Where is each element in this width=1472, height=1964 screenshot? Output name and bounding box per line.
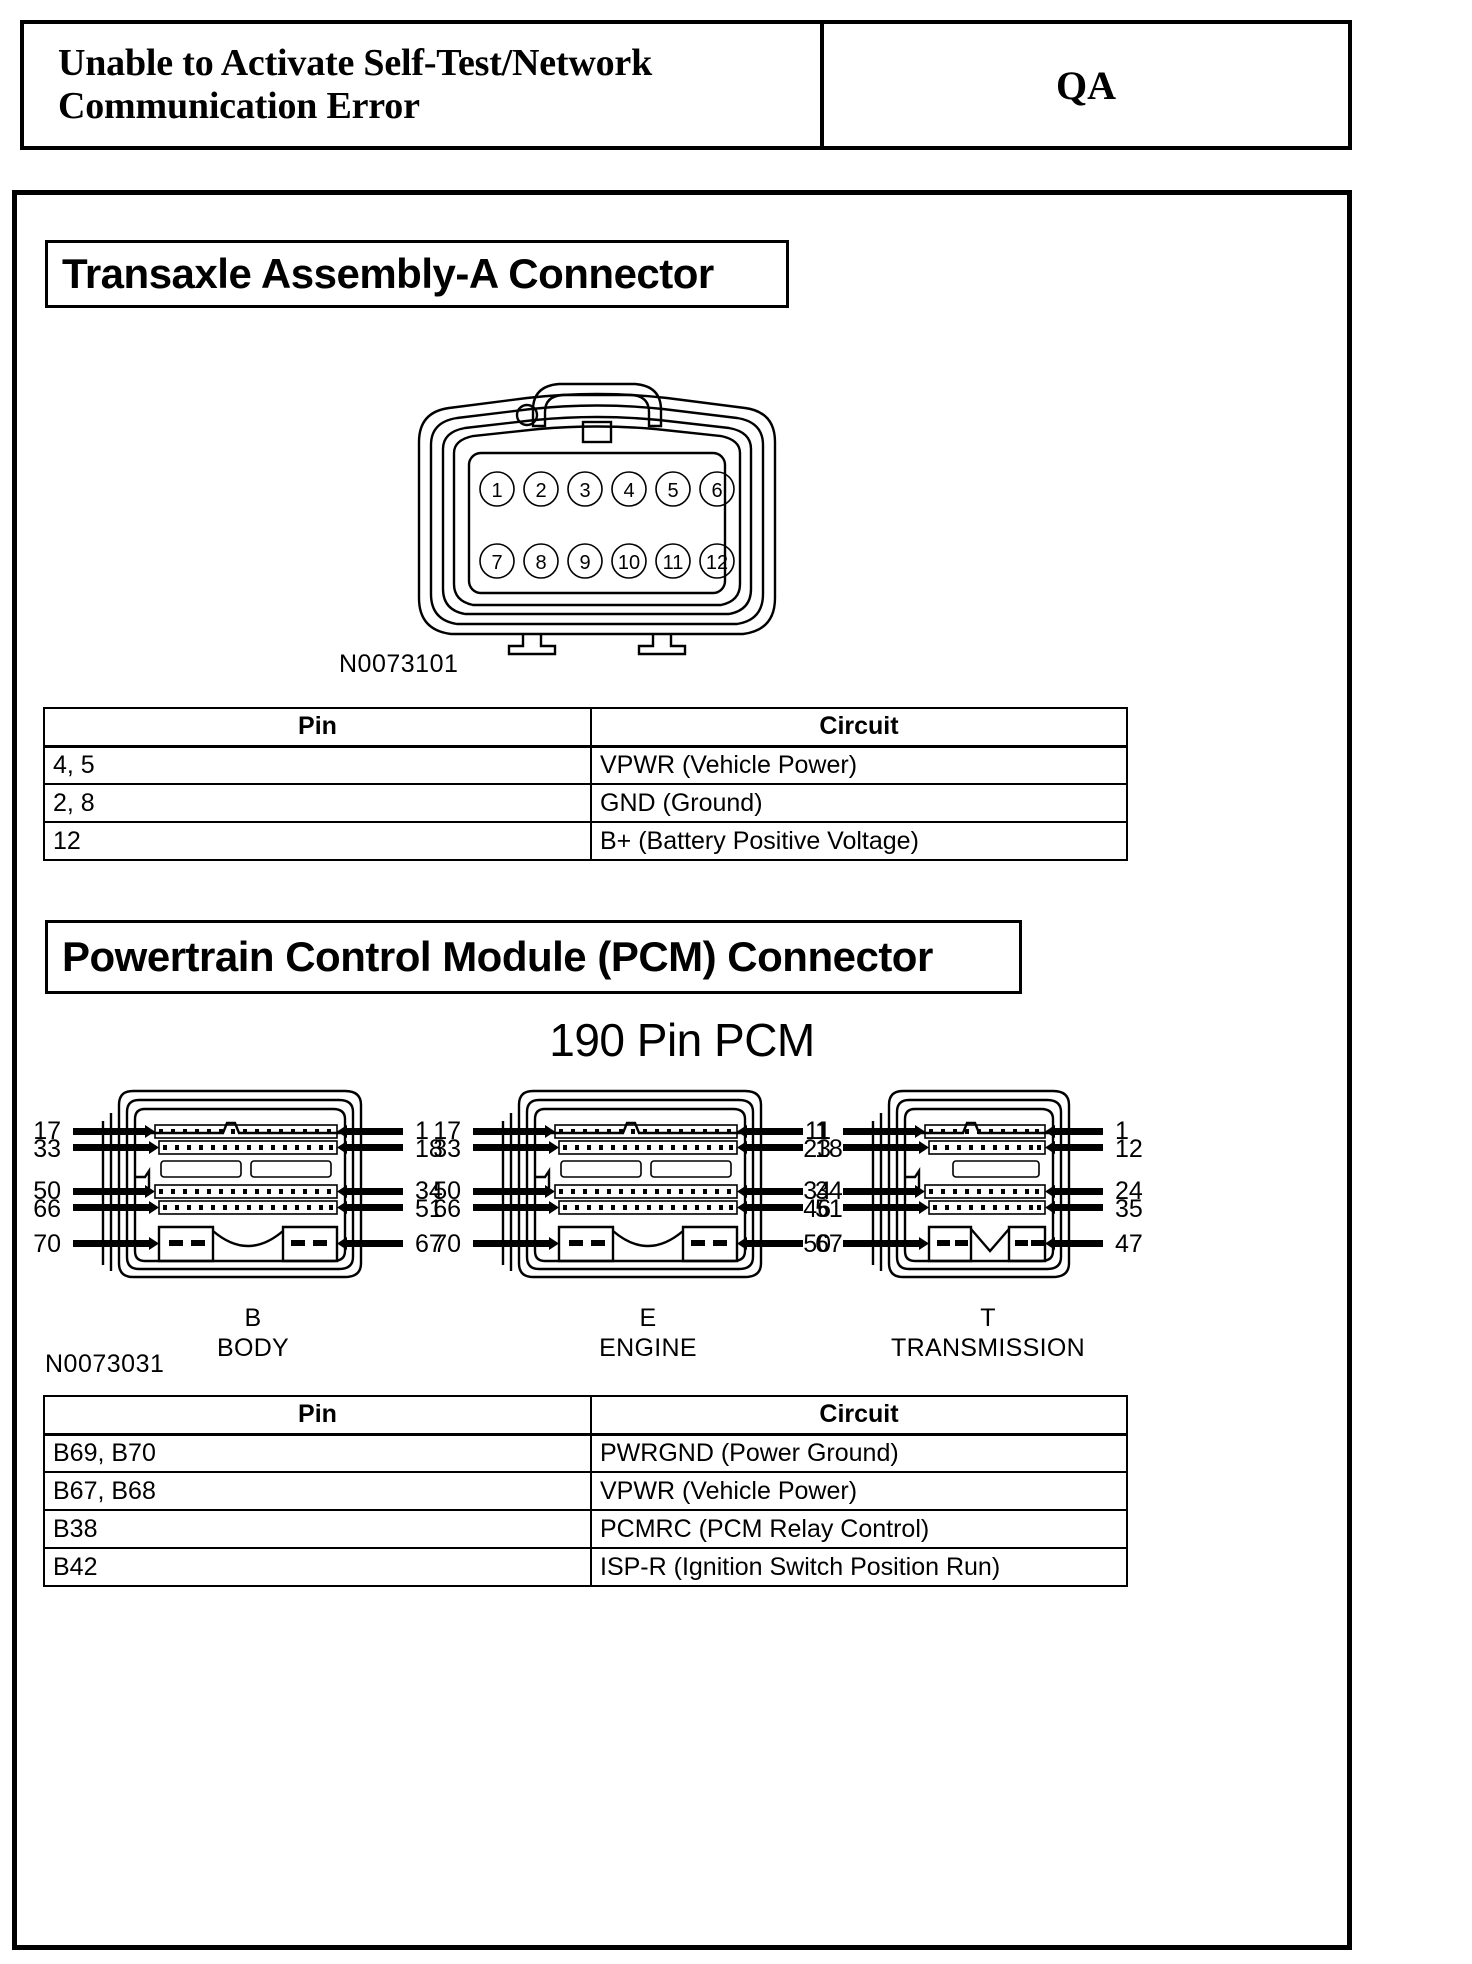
- pcm-caption-body: B BODY: [173, 1303, 333, 1363]
- table-row: B67, B68 VPWR (Vehicle Power): [44, 1472, 1127, 1510]
- svg-text:9: 9: [579, 552, 590, 574]
- pcm-e-left-label-5: 70: [433, 1230, 461, 1258]
- figure-id-pcm: N0073031: [45, 1350, 164, 1379]
- table-row: 2, 8 GND (Ground): [44, 784, 1127, 822]
- transaxle-pin-table: Pin Circuit 4, 5 VPWR (Vehicle Power) 2,…: [43, 707, 1128, 861]
- column-header-circuit: Circuit: [591, 1396, 1127, 1434]
- svg-text:11: 11: [663, 552, 684, 574]
- pcm-caption-engine-name: ENGINE: [568, 1333, 728, 1363]
- column-header-pin: Pin: [44, 708, 591, 746]
- pcm-t-left-label-2: 23: [803, 1135, 831, 1163]
- pcm-caption-transmission-letter: T: [873, 1303, 1103, 1333]
- table-row: 4, 5 VPWR (Vehicle Power): [44, 746, 1127, 784]
- pcm-e-left-label-2: 33: [433, 1135, 461, 1163]
- pcm-caption-engine-letter: E: [568, 1303, 728, 1333]
- transaxle-connector-diagram: 1 2 3 4 5 6 7 8 9 10 11 12: [397, 350, 797, 655]
- cell-pin: 4, 5: [44, 746, 591, 784]
- svg-text:3: 3: [579, 480, 590, 502]
- pcm-pin-table: Pin Circuit B69, B70 PWRGND (Power Groun…: [43, 1395, 1128, 1587]
- pcm-t-right-label-2: 12: [1115, 1135, 1143, 1163]
- cell-circuit: GND (Ground): [591, 784, 1127, 822]
- pcm-caption-transmission: T TRANSMISSION: [873, 1303, 1103, 1363]
- pcm-caption-transmission-name: TRANSMISSION: [873, 1333, 1103, 1363]
- transaxle-pin-row-2: 7 8 9 10 11 12: [480, 544, 734, 578]
- table-row: B38 PCMRC (PCM Relay Control): [44, 1510, 1127, 1548]
- svg-text:10: 10: [618, 552, 640, 574]
- section-heading-transaxle-label: Transaxle Assembly-A Connector: [62, 250, 714, 298]
- pcm-subtitle: 190 Pin PCM: [17, 1013, 1347, 1067]
- page-header-banner: Unable to Activate Self-Test/Network Com…: [20, 20, 1352, 150]
- cell-circuit: VPWR (Vehicle Power): [591, 1472, 1127, 1510]
- cell-circuit: PCMRC (PCM Relay Control): [591, 1510, 1127, 1548]
- svg-text:1: 1: [491, 480, 502, 502]
- cell-pin: B69, B70: [44, 1434, 591, 1472]
- svg-text:8: 8: [535, 552, 546, 574]
- section-heading-pcm: Powertrain Control Module (PCM) Connecto…: [45, 920, 1022, 994]
- table-header-row: Pin Circuit: [44, 1396, 1127, 1434]
- table-row: B42 ISP-R (Ignition Switch Position Run): [44, 1548, 1127, 1586]
- pcm-b-left-label-5: 70: [33, 1230, 61, 1258]
- pcm-t-right-label-4: 35: [1115, 1195, 1143, 1223]
- pcm-connector-engine: 17 33 50 66 70 1 18 34 51 67: [473, 1085, 803, 1290]
- svg-text:12: 12: [706, 552, 728, 574]
- section-heading-transaxle: Transaxle Assembly-A Connector: [45, 240, 789, 308]
- transaxle-pin-row-1: 1 2 3 4 5 6: [480, 472, 734, 506]
- pcm-caption-body-name: BODY: [173, 1333, 333, 1363]
- pcm-t-left-label-5: 50: [803, 1230, 831, 1258]
- pcm-caption-body-letter: B: [173, 1303, 333, 1333]
- cell-circuit: VPWR (Vehicle Power): [591, 746, 1127, 784]
- table-row: 12 B+ (Battery Positive Voltage): [44, 822, 1127, 860]
- pcm-e-left-label-4: 66: [433, 1195, 461, 1223]
- cell-circuit: B+ (Battery Positive Voltage): [591, 822, 1127, 860]
- table-header-row: Pin Circuit: [44, 708, 1127, 746]
- svg-text:2: 2: [535, 480, 546, 502]
- section-heading-pcm-label: Powertrain Control Module (PCM) Connecto…: [62, 933, 933, 981]
- page-title: Unable to Activate Self-Test/Network Com…: [58, 42, 820, 127]
- pcm-caption-engine: E ENGINE: [568, 1303, 728, 1363]
- page-code-badge: QA: [1056, 62, 1116, 109]
- pcm-t-right-label-5: 47: [1115, 1230, 1143, 1258]
- cell-pin: 2, 8: [44, 784, 591, 822]
- table-row: B69, B70 PWRGND (Power Ground): [44, 1434, 1127, 1472]
- cell-circuit: ISP-R (Ignition Switch Position Run): [591, 1548, 1127, 1586]
- svg-text:4: 4: [623, 480, 634, 502]
- cell-pin: 12: [44, 822, 591, 860]
- page-header-code-cell: QA: [824, 24, 1348, 146]
- cell-pin: B67, B68: [44, 1472, 591, 1510]
- column-header-circuit: Circuit: [591, 708, 1127, 746]
- pcm-connector-body: 17 33 50 66 70 1 18 34 51 67: [73, 1085, 403, 1290]
- cell-circuit: PWRGND (Power Ground): [591, 1434, 1127, 1472]
- page-header-title-cell: Unable to Activate Self-Test/Network Com…: [24, 24, 824, 146]
- pcm-b-left-label-2: 33: [33, 1135, 61, 1163]
- column-header-pin: Pin: [44, 1396, 591, 1434]
- figure-id-transaxle: N0073101: [339, 650, 458, 679]
- pcm-b-left-label-4: 66: [33, 1195, 61, 1223]
- pcm-connector-transmission: 11 23 34 46 50 1 12 24 35 47: [843, 1085, 1103, 1290]
- cell-pin: B38: [44, 1510, 591, 1548]
- content-frame: Transaxle Assembly-A Connector 1 2 3: [12, 190, 1352, 1950]
- svg-text:5: 5: [667, 480, 678, 502]
- pcm-connector-diagrams: 17 33 50 66 70 1 18 34 51 67: [43, 1085, 1323, 1350]
- svg-text:7: 7: [491, 552, 502, 574]
- cell-pin: B42: [44, 1548, 591, 1586]
- pcm-t-left-label-4: 46: [803, 1195, 831, 1223]
- svg-text:6: 6: [711, 480, 722, 502]
